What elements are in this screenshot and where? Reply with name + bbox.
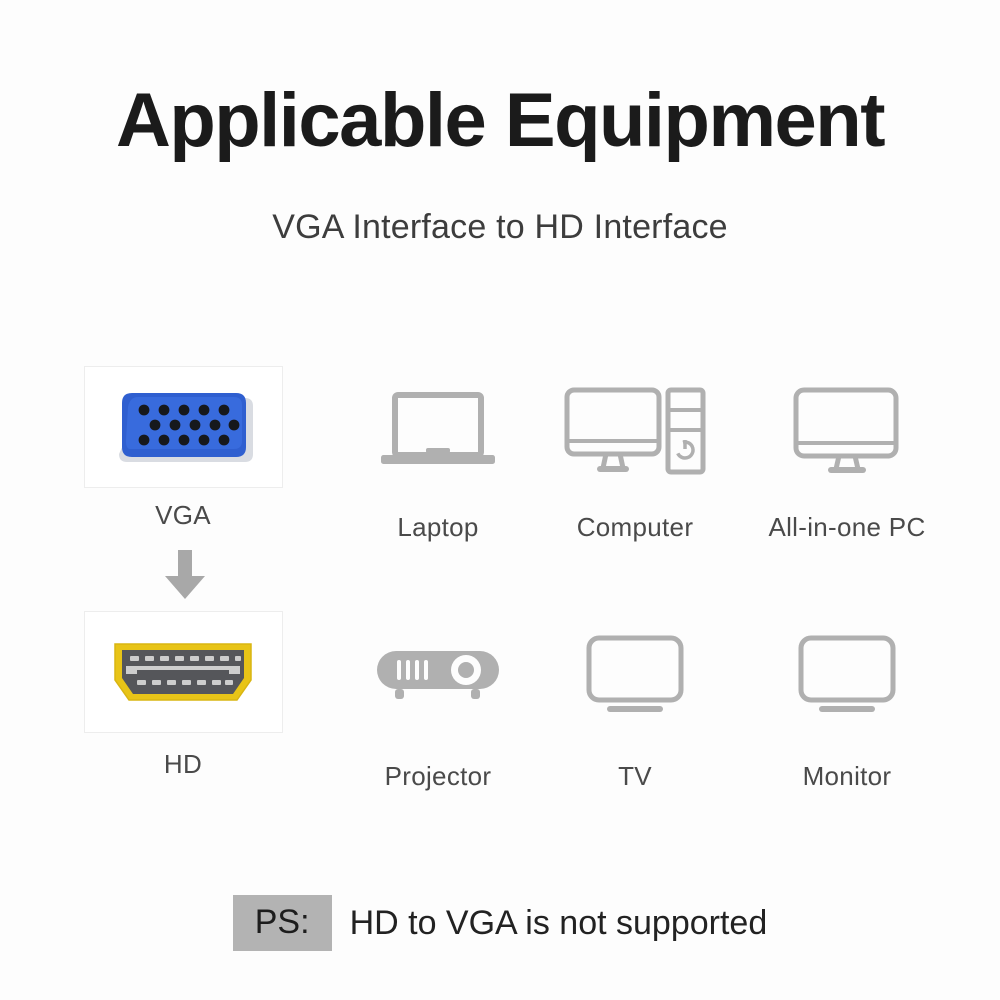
projector-art: [333, 605, 543, 745]
ps-note: PS:HD to VGA is not supported: [0, 895, 1000, 951]
equipment-label-all-in-one-pc: All-in-one PC: [742, 512, 952, 542]
equipment-grid: VGA Laptop: [0, 360, 1000, 800]
tv-art: [530, 605, 740, 745]
tv-icon: [585, 634, 685, 716]
equipment-item-tv: TV: [530, 605, 740, 805]
equipment-item-hd: HD: [78, 605, 288, 805]
equipment-label-tv: TV: [530, 761, 740, 791]
ps-tag: PS:: [233, 895, 332, 951]
flow-arrow: [150, 545, 220, 605]
ps-note-text: HD to VGA is not supported: [350, 899, 768, 947]
equipment-item-vga: VGA: [78, 360, 288, 560]
computer-art: [530, 360, 740, 500]
equipment-item-projector: Projector: [333, 605, 543, 805]
equipment-label-monitor: Monitor: [742, 761, 952, 791]
equipment-item-computer: Computer: [530, 360, 740, 560]
target-row: HD: [0, 605, 1000, 805]
desktop-computer-icon: [563, 384, 707, 476]
all-in-one-pc-art: [742, 360, 952, 500]
equipment-label-computer: Computer: [530, 512, 740, 542]
laptop-art: [333, 360, 543, 500]
hdmi-connector-icon: [103, 636, 263, 708]
equipment-label-hd: HD: [78, 749, 288, 779]
equipment-item-all-in-one-pc: All-in-one PC: [742, 360, 952, 560]
monitor-art: [742, 605, 952, 745]
equipment-item-monitor: Monitor: [742, 605, 952, 805]
equipment-label-laptop: Laptop: [333, 512, 543, 542]
monitor-icon: [797, 634, 897, 716]
equipment-item-laptop: Laptop: [333, 360, 543, 560]
source-row: VGA Laptop: [0, 360, 1000, 560]
hdmi-connector-frame: [84, 611, 283, 733]
laptop-icon: [379, 387, 497, 473]
vga-connector-frame: [84, 366, 283, 488]
page-title: Applicable Equipment: [0, 78, 1000, 164]
projector-icon: [375, 645, 501, 705]
equipment-label-vga: VGA: [78, 500, 288, 530]
arrow-down-icon: [162, 548, 208, 602]
page-subtitle: VGA Interface to HD Interface: [0, 205, 1000, 249]
applicable-equipment-page: Applicable Equipment VGA Interface to HD…: [0, 0, 1000, 1000]
equipment-label-projector: Projector: [333, 761, 543, 791]
all-in-one-pc-icon: [792, 384, 902, 476]
vga-connector-icon: [108, 389, 258, 465]
